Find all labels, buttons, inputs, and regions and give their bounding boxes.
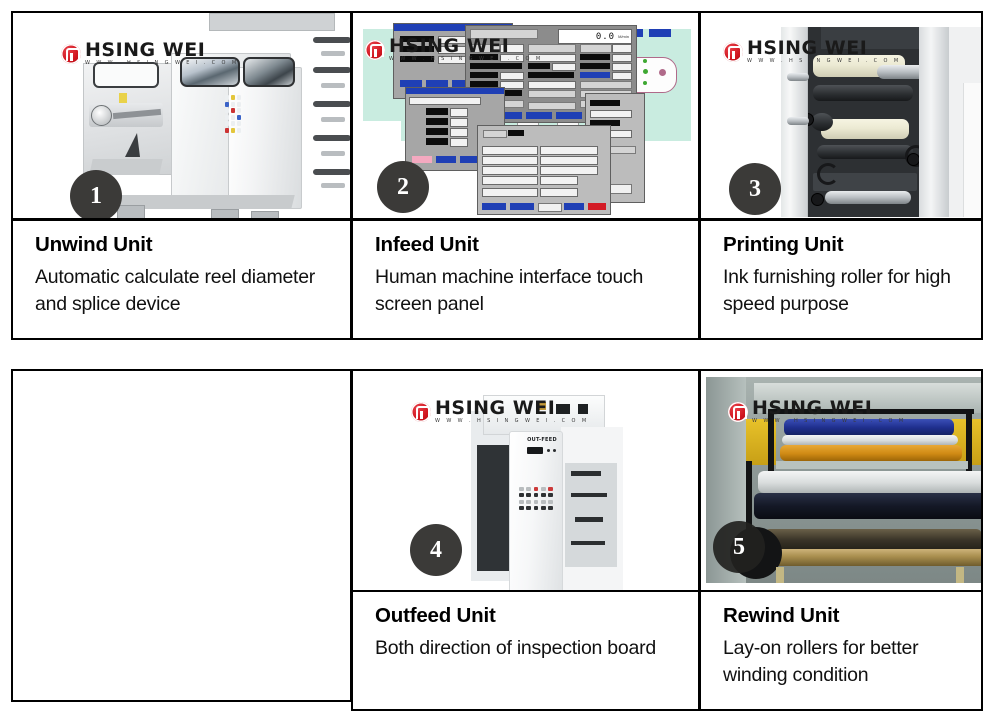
unit-number-badge-4: 4 [410,524,462,576]
outfeed-unit-photo: OUT-FEED HSING WEI W W W . H S I N G W E… [353,371,698,592]
rewind-roller-navy [754,493,981,519]
hsingwei-logo-icon [411,402,431,422]
hsingwei-logo-icon [728,402,748,422]
brand-wordmark: HSING WEI [85,41,239,60]
brand-website: W W W . H S I N G W E I . C O M [747,59,901,64]
spec-sheet-page: HSING WEI W W W . H S I N G W E I . C O … [0,0,997,723]
unit-number-badge-5: 5 [713,521,765,573]
brand-logo: HSING WEI W W W . H S I N G W E I . C O … [411,399,589,424]
hmi-speed-display: 0.0 M/min [558,29,632,44]
outfeed-display-slot [527,447,543,454]
printing-side-panel-2 [963,83,981,217]
web-roller-stack [313,31,350,201]
unit-description-1: Automatic calculate reel diameter and sp… [13,257,350,319]
brand-website: W W W . H S I N G W E I . C O M [752,419,906,424]
unit-number-badge-3: 3 [729,163,781,215]
ink-roller-lower [821,119,909,139]
unit-image-cell-5: HSING WEI W W W . H S I N G W E I . C O … [699,369,983,594]
side-shaft-2 [787,117,809,125]
unit-number-1: 1 [90,183,102,210]
unit-description-5: Lay-on rollers for better winding condit… [701,628,981,690]
infeed-hmi-screens: 0.0 M/min [353,13,698,218]
brand-logo: HSING WEI W W W . H S I N G W E I . C O … [61,41,239,66]
table-row-images-bottom: OUT-FEED HSING WEI W W W . H S I N G W E… [12,370,983,702]
lower-shaft [825,191,911,204]
brand-wordmark: HSING WEI [752,399,906,418]
unit-title-2: Infeed Unit [353,227,698,257]
unit-text-cell-5: Rewind Unit Lay-on rollers for better wi… [699,590,983,711]
unit-title-1: Unwind Unit [13,227,350,257]
unit-image-cell-4: OUT-FEED HSING WEI W W W . H S I N G W E… [351,369,700,594]
unit-text-cell-2: Infeed Unit Human machine interface touc… [351,219,700,340]
machine-foot-right [251,211,279,218]
unit-image-cell-2: 0.0 M/min [351,11,700,220]
unit-number-3: 3 [749,176,761,203]
unit-title-3: Printing Unit [701,227,981,257]
machine-foot-left [117,205,145,218]
unwind-machine-body [83,53,333,203]
status-led-1 [547,449,550,452]
outfeed-button-grid [519,487,553,510]
unwind-unit-photo: HSING WEI W W W . H S I N G W E I . C O … [13,13,350,218]
rewind-unit-photo: HSING WEI W W W . H S I N G W E I . C O … [701,371,981,592]
rewind-leg-left [776,567,784,583]
unit-image-cell-1: HSING WEI W W W . H S I N G W E I . C O … [11,11,352,220]
unit-feature-table: HSING WEI W W W . H S I N G W E I . C O … [12,12,983,702]
support-bracket [125,133,140,157]
status-led-2 [553,449,556,452]
lay-on-roller-orange [780,445,962,461]
brand-logo: HSING WEI W W W . H S I N G W E I . C O … [728,399,906,424]
hsingwei-logo-icon [723,42,743,62]
outfeed-panel-label: OUT-FEED [525,437,559,443]
machine-foot-mid [211,209,239,218]
printed-film-web [764,529,981,551]
control-button-panel [225,95,241,153]
side-shaft-1 [787,73,809,81]
outfeed-control-column [509,431,563,592]
unit-number-2: 2 [397,174,409,201]
rewind-leg-right [956,567,964,583]
lay-on-roller-white [782,435,958,445]
unit-text-cell-3: Printing Unit Ink furnishing roller for … [699,219,983,340]
roller-end-cap [811,113,833,131]
hsingwei-logo-icon [365,40,385,60]
adjust-knob-1 [811,193,824,206]
printing-frame-right [919,27,949,217]
hmi-speed-unit: M/min [617,34,631,39]
brand-website: W W W . H S I N G W E I . C O M [85,61,239,66]
machine-top-bar [209,13,335,31]
printing-unit-photo: HSING WEI W W W . H S I N G W E I . C O … [701,13,981,218]
table-row-spacer [12,340,983,370]
outfeed-right-cavity [565,463,617,567]
hmi-speed-value: 0.0 [596,32,617,42]
unit-image-cell-3: HSING WEI W W W . H S I N G W E I . C O … [699,11,983,220]
unit-number-badge-2: 2 [377,161,429,213]
roller-support-bar [776,461,968,469]
reel-hub [91,105,112,126]
brand-wordmark: HSING WEI [435,399,589,418]
unit-title-5: Rewind Unit [701,598,981,628]
brand-logo: HSING WEI W W W . H S I N G W E I . C O … [365,37,543,62]
brand-website: W W W . H S I N G W E I . C O M [389,57,543,62]
table-row-images-top: HSING WEI W W W . H S I N G W E I . C O … [12,12,983,340]
unit-number-5: 5 [733,534,745,561]
inspection-window-2 [243,57,295,87]
unit-title-4: Outfeed Unit [353,598,698,628]
unit-description-2: Human machine interface touch screen pan… [353,257,698,319]
unit-description-3: Ink furnishing roller for high speed pur… [701,257,981,319]
empty-cell [11,369,352,702]
unit-description-4: Both direction of inspection board [353,628,698,663]
brand-website: W W W . H S I N G W E I . C O M [435,419,589,424]
unit-number-badge-1: 1 [70,170,122,218]
doctor-blade-bar [817,145,913,159]
brand-wordmark: HSING WEI [747,39,901,58]
tension-hook-1 [817,163,839,185]
brand-wordmark: HSING WEI [389,37,543,56]
rewind-roller-white [758,471,981,493]
brand-logo: HSING WEI W W W . H S I N G W E I . C O … [723,39,901,64]
impression-roller-upper [813,85,913,101]
hsingwei-logo-icon [61,44,81,64]
hmi-window-front-lower [477,125,611,215]
unit-number-4: 4 [430,537,442,564]
unit-text-cell-1: Unwind Unit Automatic calculate reel dia… [11,219,352,340]
unit-text-cell-4: Outfeed Unit Both direction of inspectio… [351,590,700,711]
